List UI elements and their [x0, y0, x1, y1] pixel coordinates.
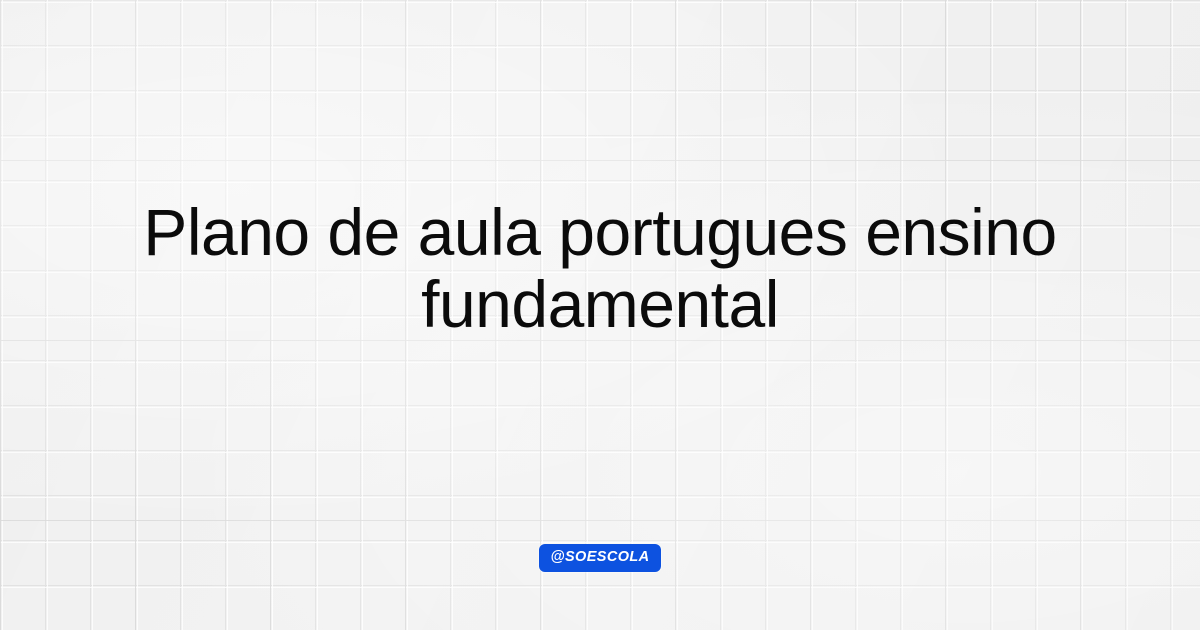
brand-badge[interactable]: @SOESCOLA	[539, 544, 660, 572]
brand-badge-container: @SOESCOLA	[0, 544, 1200, 572]
title-container: Plano de aula portugues ensino fundament…	[0, 196, 1200, 340]
page-title: Plano de aula portugues ensino fundament…	[120, 196, 1080, 340]
title-card: Plano de aula portugues ensino fundament…	[0, 0, 1200, 630]
